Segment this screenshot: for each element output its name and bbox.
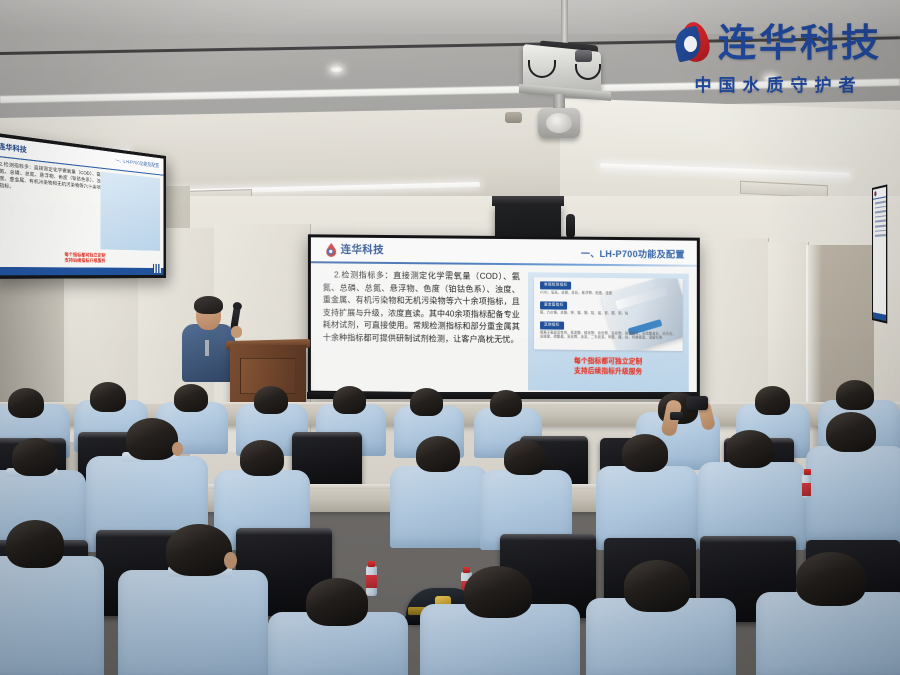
bottle-label <box>802 483 811 496</box>
presenter-lanyard <box>205 340 209 356</box>
attendee-hair <box>624 560 690 612</box>
side-right-header <box>873 187 886 200</box>
chair-highlight <box>500 534 596 549</box>
chair-highlight <box>292 432 362 445</box>
slide-body-text: 2.检测指标多：直接测定化学需氧量（COD）、氨氮、总磷、总氮、悬浮物、色度（铂… <box>323 269 520 346</box>
bottle-cap <box>804 469 811 475</box>
attendee-hair <box>166 524 232 576</box>
attendee-hair <box>410 388 443 416</box>
attendee-shirt <box>806 446 900 542</box>
attendee-hair <box>826 412 876 452</box>
indicator-table-card: 常规检测指标 COD、氨氮、总磷、总氮、悬浮物、色度、浊度 重金属指标 铜、六价… <box>534 277 683 351</box>
indicator-group-items: 铜、六价铬、总铬、锌、镍、镉、铅、锰、铁、银、钡、钴 <box>540 310 677 315</box>
attendee-hair <box>90 382 126 412</box>
watermark-brand: 连华科技 <box>718 25 882 63</box>
water-drop-logo-icon <box>675 22 711 66</box>
side-left-header-title: 一、LH-P700功能及配置 <box>115 158 159 170</box>
chair-highlight <box>236 528 332 544</box>
slide-section-title: 一、LH-P700功能及配置 <box>581 247 685 261</box>
smartphone-icon <box>686 396 708 410</box>
indicator-group-items: 阴离子表面活性剂、挥发酚、硫化物、氰化物、氟化物、硝酸盐氮、亚硝酸盐氮、凯氏氮、… <box>540 330 677 349</box>
indicator-group-tag: 重金属指标 <box>540 301 568 309</box>
attendee-ear <box>172 442 183 456</box>
side-left-red-note: 每个指标都可独立定制 支持后续指标升级服务 <box>0 250 163 265</box>
attendee-hair <box>240 440 284 476</box>
indicator-group-tag: 其他指标 <box>540 321 564 329</box>
slide-logo-text: 连华科技 <box>341 243 384 258</box>
attendee-hair <box>416 436 460 472</box>
side-left-footer-bar <box>0 267 163 275</box>
hanging-microphone-icon <box>566 214 575 238</box>
slide-header: 连华科技 一、LH-P700功能及配置 <box>311 237 697 266</box>
attendee-hair <box>8 388 44 418</box>
attendee-shirt <box>0 556 104 675</box>
attendee-shirt <box>390 466 488 548</box>
attendee-hair <box>12 438 58 476</box>
watermark-row: 连华科技 <box>675 22 882 66</box>
slide-figure-panel: 常规检测指标 COD、氨氮、总磷、总氮、悬浮物、色度、浊度 重金属指标 铜、六价… <box>528 272 689 392</box>
slide-red-note: 每个指标都可独立定制 支持后续指标升级服务 <box>528 356 689 377</box>
attendee-hair <box>306 578 368 626</box>
attendee-hair <box>726 430 774 468</box>
brand-watermark: 连华科技 中国水质守护者 <box>675 22 882 96</box>
projection-screen[interactable]: 连华科技 一、LH-P700功能及配置 2.检测指标多：直接测定化学需氧量（CO… <box>308 234 700 398</box>
side-left-logo: 连华科技 <box>0 140 27 154</box>
side-left-panel <box>101 172 160 251</box>
chair-highlight <box>700 536 796 551</box>
presenter-hair <box>194 296 223 314</box>
bottle-label <box>366 575 377 588</box>
attendee-hair <box>464 566 532 618</box>
attendee-hair <box>333 386 366 414</box>
bottle-cap <box>463 567 470 573</box>
side-right-footer-bar <box>873 312 886 321</box>
smoke-detector-icon <box>505 112 522 123</box>
indicator-group-items: COD、氨氮、总磷、总氮、悬浮物、色度、浊度 <box>540 290 677 295</box>
logo-inner-dot <box>684 36 697 52</box>
attendee-hair <box>796 552 866 606</box>
wristwatch-icon <box>670 412 683 420</box>
water-bottle <box>366 566 377 596</box>
slide-body-paragraph: 2.检测指标多：直接测定化学需氧量（COD）、氨氮、总磷、总氮、悬浮物、色度（铂… <box>323 269 520 346</box>
presenter-hand <box>231 326 242 338</box>
attendee-hair <box>836 380 874 410</box>
side-right-logo-icon <box>874 191 876 197</box>
slide-surface: 连华科技 一、LH-P700功能及配置 2.检测指标多：直接测定化学需氧量（CO… <box>311 237 697 395</box>
watermark-tagline: 中国水质守护者 <box>675 71 882 96</box>
attendee-hair <box>254 386 288 414</box>
water-bottle <box>802 474 811 498</box>
water-drop-logo-icon <box>325 242 338 257</box>
red-note-line2: 支持后续指标升级服务 <box>528 366 689 377</box>
ceiling-spot-light <box>330 66 343 73</box>
attendee-hair <box>755 386 790 415</box>
attendee-hair <box>504 440 546 475</box>
projector-lens <box>575 50 592 62</box>
attendee-ear <box>224 552 237 569</box>
attendee-hair <box>490 390 522 417</box>
attendee-hair <box>174 384 208 412</box>
attendee-hair <box>6 520 64 568</box>
conference-room-photo: 连华科技 一、LH-P700功能及配置 2.检测指标多：直接测定化学需氧量（CO… <box>0 0 900 675</box>
slide-logo-group: 连华科技 <box>325 242 384 257</box>
indicator-group-tag: 常规检测指标 <box>540 281 571 289</box>
attendee-hair <box>126 418 178 460</box>
attendee-shirt <box>118 570 268 675</box>
right-edge-display[interactable] <box>872 184 887 323</box>
left-mirrored-display[interactable]: 连华科技 一、LH-P700功能及配置 2.检测指标多：直接测定化学需氧量（CO… <box>0 132 166 279</box>
bottle-cap <box>368 561 375 567</box>
projector-dome-housing <box>538 108 580 138</box>
side-right-text-lines <box>875 200 886 239</box>
attendee-hair <box>622 434 668 472</box>
qr-code-icon <box>153 264 161 273</box>
